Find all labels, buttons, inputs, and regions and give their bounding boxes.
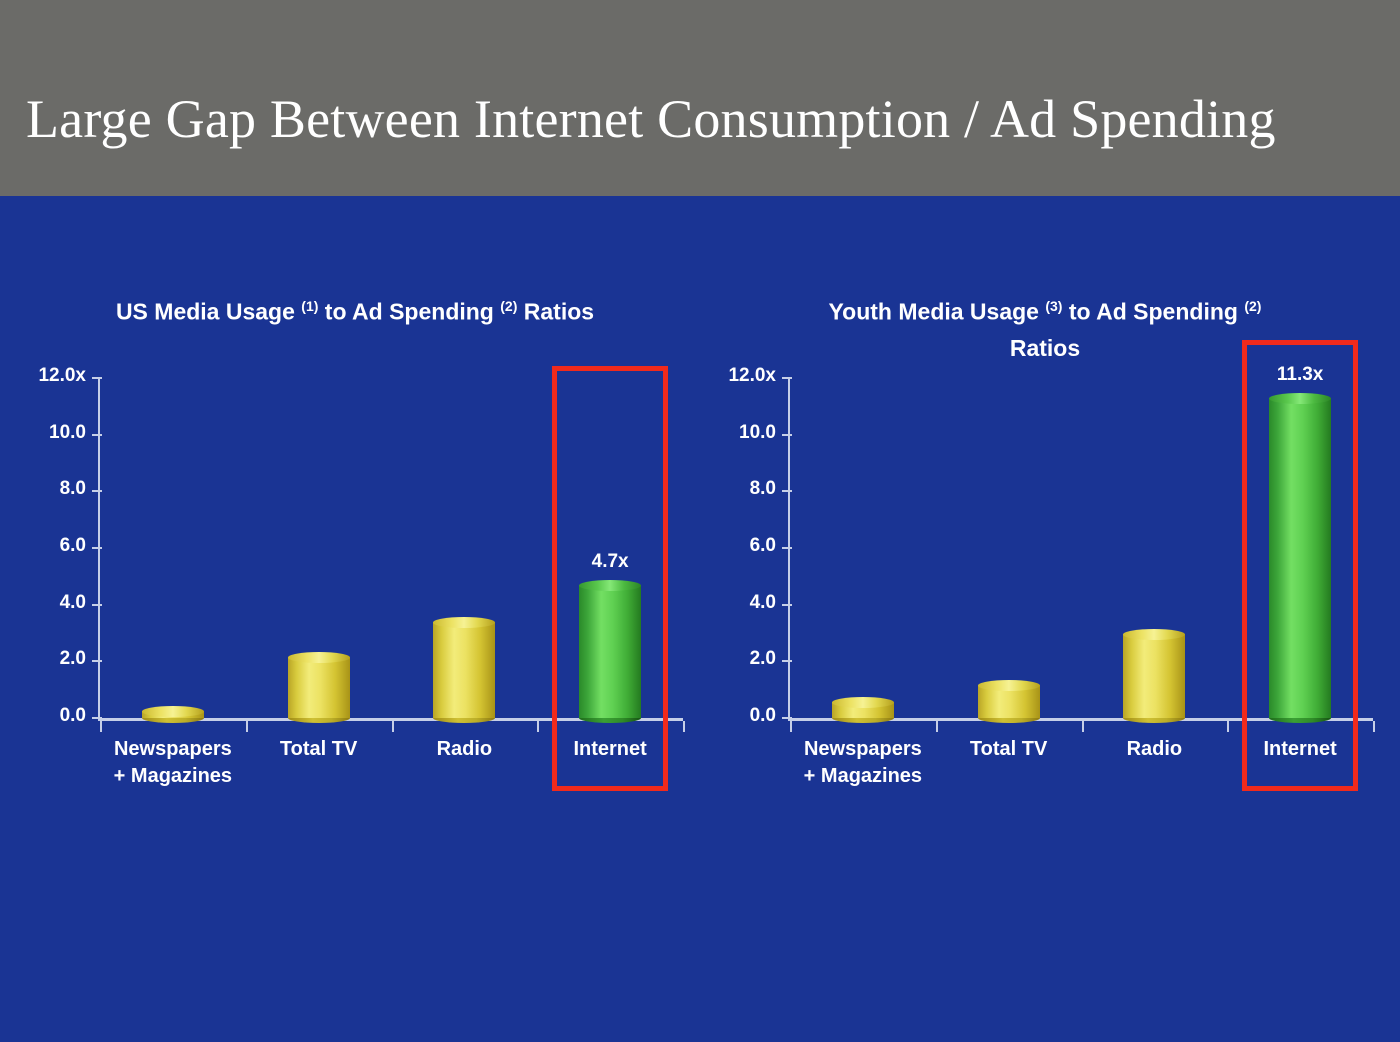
y-tick xyxy=(92,660,102,662)
x-tick xyxy=(392,721,394,732)
y-tick xyxy=(782,377,792,379)
chart-panel-us-media-usage: US Media Usage (1) to Ad Spending (2) Ra… xyxy=(10,196,700,816)
x-category-label: Total TV xyxy=(929,736,1089,763)
bar-internet xyxy=(579,585,641,718)
x-category-line: Internet xyxy=(530,736,690,763)
y-tick-label: 0.0 xyxy=(700,705,776,727)
x-category-line: Internet xyxy=(1220,736,1380,763)
y-tick xyxy=(782,490,792,492)
x-category-line: Total TV xyxy=(929,736,1089,763)
bar-category-2 xyxy=(433,622,495,718)
slide: Large Gap Between Internet Consumption /… xyxy=(0,0,1400,1042)
bar-internet xyxy=(1269,398,1331,718)
x-tick xyxy=(246,721,248,732)
x-category-label: Newspapers+ Magazines xyxy=(783,736,943,790)
y-tick xyxy=(92,604,102,606)
x-tick xyxy=(537,721,539,732)
header-band: Large Gap Between Internet Consumption /… xyxy=(0,0,1400,196)
slide-body: US Media Usage (1) to Ad Spending (2) Ra… xyxy=(0,196,1400,1042)
y-axis-line-left xyxy=(98,378,100,720)
bar-category-0 xyxy=(142,711,204,718)
x-category-line: Newspapers xyxy=(783,736,943,763)
y-tick-label: 0.0 xyxy=(10,705,86,727)
x-tick xyxy=(790,721,792,732)
x-category-label: Total TV xyxy=(239,736,399,763)
bar-value-label: 11.3x xyxy=(1240,364,1360,386)
y-tick xyxy=(782,547,792,549)
y-tick-label: 12.0x xyxy=(10,365,86,387)
x-tick xyxy=(1227,721,1229,732)
plot-area-right: 0.02.04.06.08.010.012.0x 11.3x Newspaper… xyxy=(700,196,1390,816)
y-tick-label: 4.0 xyxy=(700,592,776,614)
x-category-line: + Magazines xyxy=(93,763,253,790)
highlight-box-internet xyxy=(552,366,668,791)
bar-category-2 xyxy=(1123,634,1185,718)
y-tick-label: 12.0x xyxy=(700,365,776,387)
plot-area-left: 0.02.04.06.08.010.012.0x 4.7x Newspapers… xyxy=(10,196,700,816)
y-tick xyxy=(92,377,102,379)
x-category-line: Total TV xyxy=(239,736,399,763)
y-tick xyxy=(782,660,792,662)
bar-category-0 xyxy=(832,702,894,718)
y-tick-label: 6.0 xyxy=(10,535,86,557)
y-tick xyxy=(782,717,792,719)
y-tick xyxy=(92,434,102,436)
x-category-line: Radio xyxy=(384,736,544,763)
page-title: Large Gap Between Internet Consumption /… xyxy=(26,92,1276,146)
x-category-label: Newspapers+ Magazines xyxy=(93,736,253,790)
x-category-label: Internet xyxy=(530,736,690,763)
y-tick-label: 6.0 xyxy=(700,535,776,557)
bar-value-label: 4.7x xyxy=(550,551,670,573)
y-tick xyxy=(92,490,102,492)
x-category-label: Internet xyxy=(1220,736,1380,763)
y-tick-label: 4.0 xyxy=(10,592,86,614)
y-tick-label: 2.0 xyxy=(10,648,86,670)
bar-category-1 xyxy=(288,657,350,718)
x-tick xyxy=(936,721,938,732)
x-tick xyxy=(683,721,685,732)
x-tick xyxy=(1373,721,1375,732)
y-tick xyxy=(782,434,792,436)
y-tick-label: 10.0 xyxy=(10,422,86,444)
y-tick-label: 8.0 xyxy=(10,478,86,500)
x-category-line: Newspapers xyxy=(93,736,253,763)
x-tick xyxy=(1082,721,1084,732)
y-tick xyxy=(782,604,792,606)
x-category-line: + Magazines xyxy=(783,763,943,790)
y-tick-label: 2.0 xyxy=(700,648,776,670)
y-axis-line-right xyxy=(788,378,790,720)
x-category-label: Radio xyxy=(384,736,544,763)
y-tick-label: 8.0 xyxy=(700,478,776,500)
y-tick xyxy=(92,717,102,719)
y-tick xyxy=(92,547,102,549)
chart-panel-youth-media-usage: Youth Media Usage (3) to Ad Spending (2)… xyxy=(700,196,1390,816)
x-category-label: Radio xyxy=(1074,736,1234,763)
y-tick-label: 10.0 xyxy=(700,422,776,444)
x-category-line: Radio xyxy=(1074,736,1234,763)
x-tick xyxy=(100,721,102,732)
bar-category-1 xyxy=(978,685,1040,718)
